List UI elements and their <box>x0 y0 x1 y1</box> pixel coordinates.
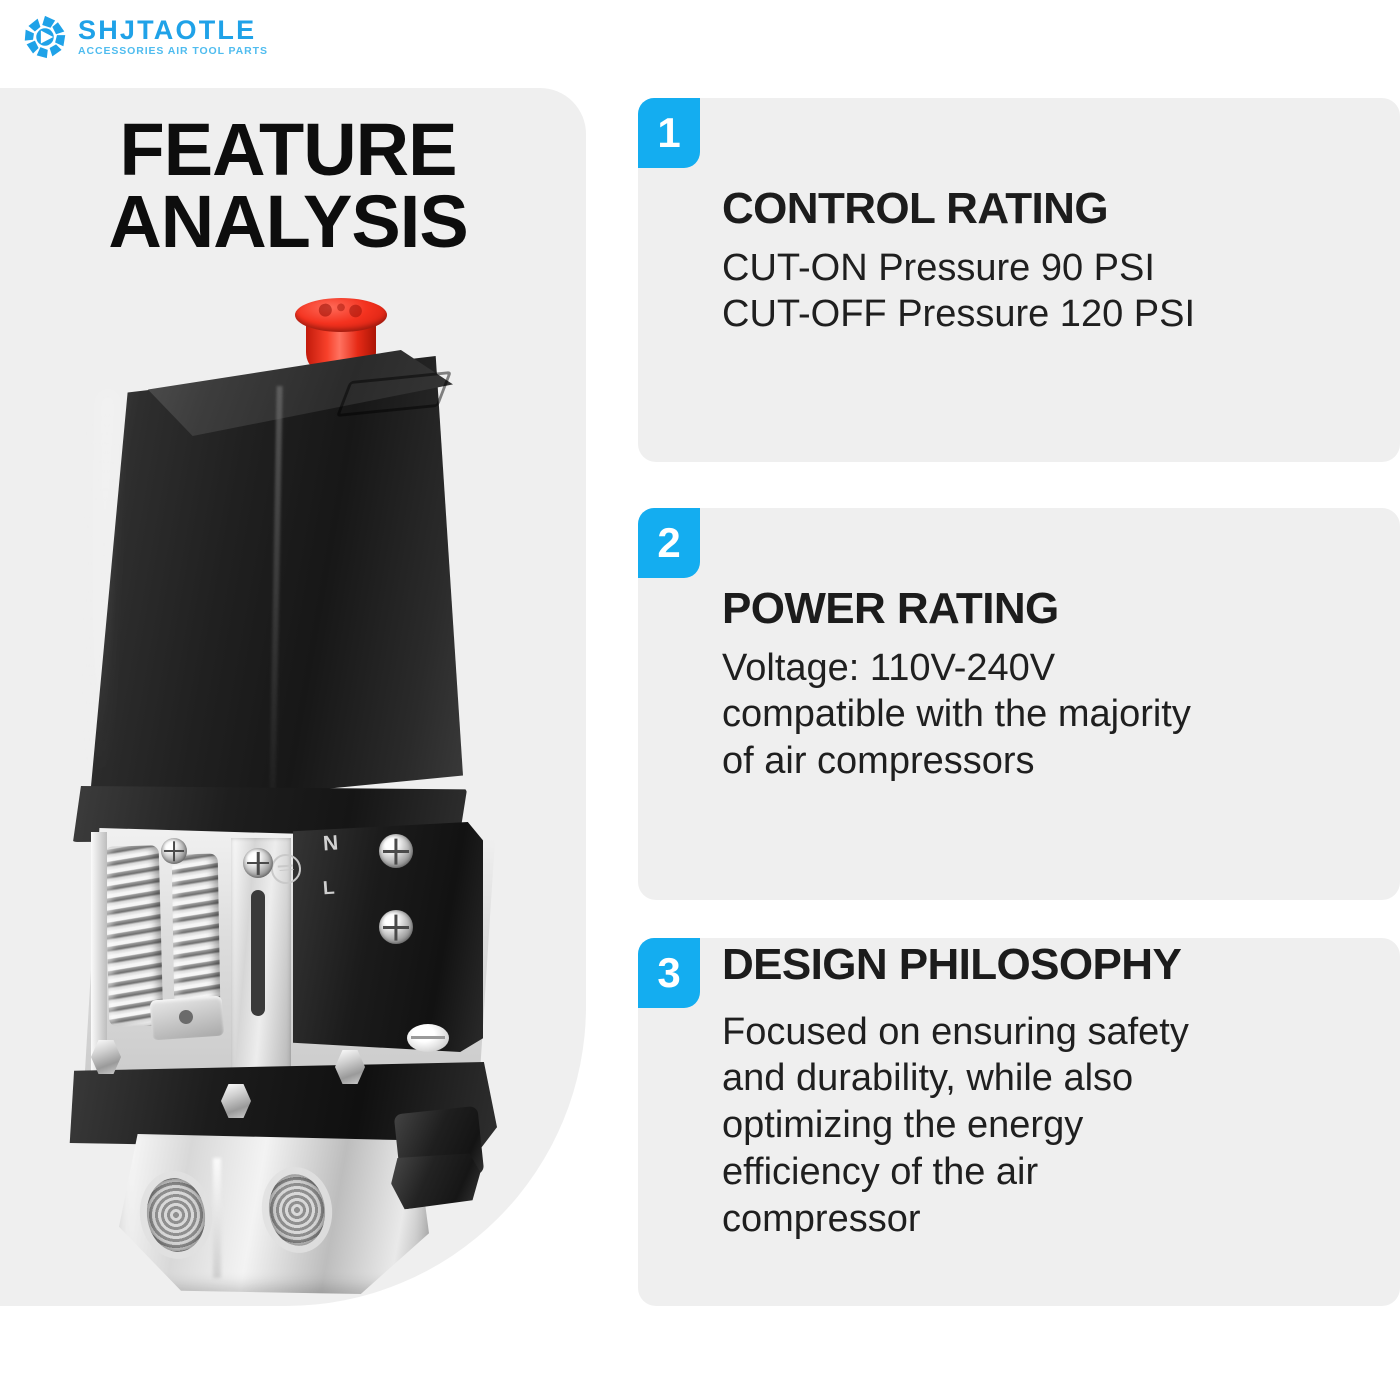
reset-button-emboss <box>313 302 369 320</box>
hero-panel: FEATURE ANALYSIS N L <box>0 88 586 1306</box>
terminal-screw <box>243 848 273 878</box>
adjustment-screw <box>407 1024 449 1052</box>
metal-rail <box>91 832 107 1072</box>
feature-text-2: Voltage: 110V-240V compatible with the m… <box>722 645 1374 785</box>
feature-title-2: POWER RATING <box>722 586 1374 633</box>
brand-header: SHJTAOTLE ACCESSORIES AIR TOOL PARTS <box>22 8 268 66</box>
feature-text-line: compatible with the majority <box>722 691 1374 738</box>
feature-text-line: and durability, while also <box>722 1055 1374 1102</box>
brand-tagline: ACCESSORIES AIR TOOL PARTS <box>78 45 268 58</box>
feature-text-line: compressor <box>722 1196 1374 1243</box>
feature-text-3: Focused on ensuring safety and durabilit… <box>722 1009 1374 1243</box>
switch-housing-cover <box>73 356 463 812</box>
pressure-spring-right <box>172 854 221 1005</box>
feature-text-line: optimizing the energy <box>722 1102 1374 1149</box>
terminal-label-line: L <box>322 878 335 901</box>
brand-name: SHJTAOTLE <box>78 16 268 44</box>
feature-number-badge-3: 3 <box>638 938 700 1008</box>
polygon-gem-icon <box>22 14 68 60</box>
feature-card-body: CONTROL RATING CUT-ON Pressure 90 PSI CU… <box>722 186 1374 338</box>
manifold-ridge <box>213 1158 221 1278</box>
feature-text-line: Focused on ensuring safety <box>722 1009 1374 1056</box>
page-title-line-1: FEATURE <box>120 108 457 191</box>
cable-gland-nut <box>389 1149 484 1210</box>
terminal-screw <box>379 834 413 868</box>
actuator-plate-slot <box>251 890 265 1016</box>
feature-text-line: Voltage: 110V-240V <box>722 645 1374 692</box>
terminal-screw <box>161 838 187 864</box>
feature-text-line: CUT-ON Pressure 90 PSI <box>722 245 1374 292</box>
feature-number-badge-1: 1 <box>638 98 700 168</box>
feature-number-badge-2: 2 <box>638 508 700 578</box>
feature-text-line: CUT-OFF Pressure 120 PSI <box>722 291 1374 338</box>
terminal-label-neutral: N <box>322 831 340 856</box>
feature-card-power-rating: 2 POWER RATING Voltage: 110V-240V compat… <box>638 508 1400 900</box>
page-title-line-2: ANALYSIS <box>108 180 467 263</box>
product-image-pressure-switch: N L <box>55 298 525 1288</box>
feature-text-line: efficiency of the air <box>722 1149 1374 1196</box>
feature-title-3: DESIGN PHILOSOPHY <box>722 942 1374 989</box>
brand-text-block: SHJTAOTLE ACCESSORIES AIR TOOL PARTS <box>78 16 268 58</box>
feature-card-control-rating: 1 CONTROL RATING CUT-ON Pressure 90 PSI … <box>638 98 1400 462</box>
feature-title-1: CONTROL RATING <box>722 186 1374 233</box>
feature-card-body: POWER RATING Voltage: 110V-240V compatib… <box>722 586 1374 785</box>
feature-text-line: of air compressors <box>722 738 1374 785</box>
feature-card-design-philosophy: 3 DESIGN PHILOSOPHY Focused on ensuring … <box>638 938 1400 1306</box>
terminal-screw <box>379 910 413 944</box>
feature-card-body: DESIGN PHILOSOPHY Focused on ensuring sa… <box>722 942 1374 1242</box>
page-title: FEATURE ANALYSIS <box>28 114 548 258</box>
feature-text-1: CUT-ON Pressure 90 PSI CUT-OFF Pressure … <box>722 245 1374 338</box>
